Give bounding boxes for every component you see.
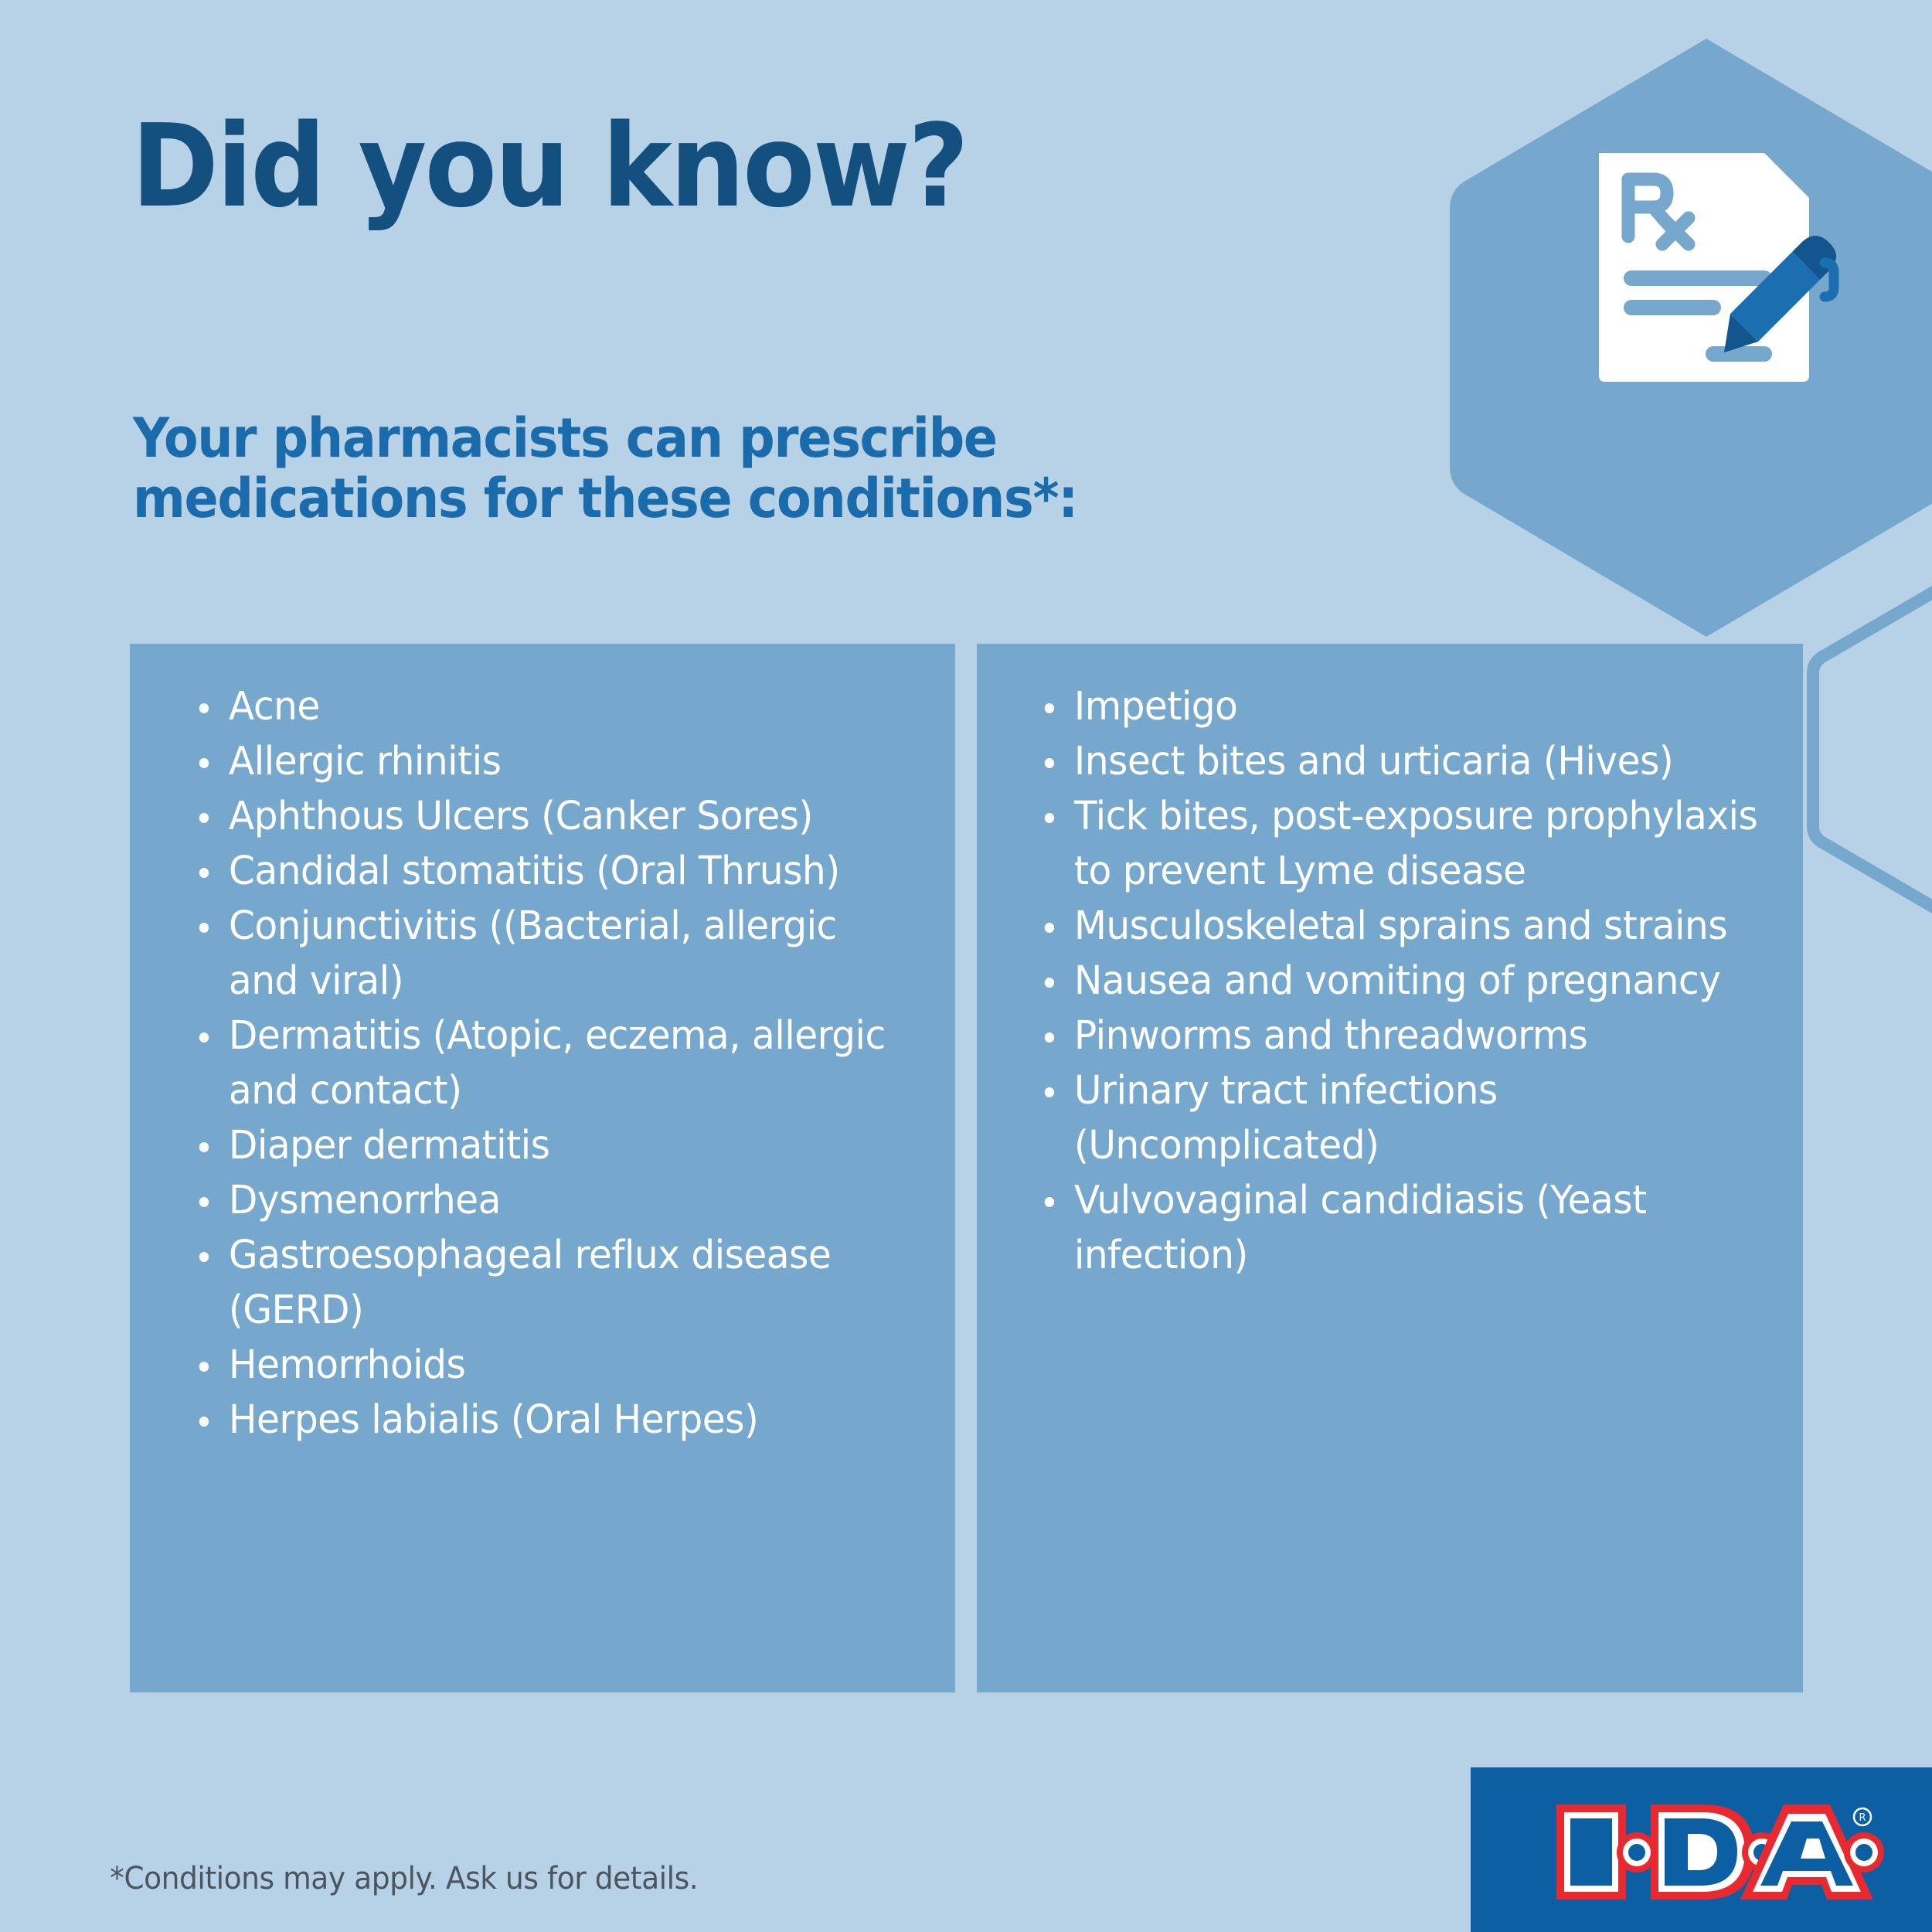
list-item: Urinary tract infections (Uncomplicated): [1040, 1063, 1760, 1173]
list-item: Conjunctivitis ((Bacterial, allergic and…: [195, 899, 903, 1009]
conditions-list-right: Impetigo Insect bites and urticaria (Hiv…: [1040, 679, 1794, 1283]
registered-trademark-icon: R: [1854, 1808, 1871, 1825]
svg-text:R: R: [1859, 1812, 1866, 1824]
ida-logo: R: [1471, 1767, 1932, 1932]
page-title: Did you know?: [131, 108, 1269, 225]
conditions-panel-right: Impetigo Insect bites and urticaria (Hiv…: [977, 644, 1803, 1692]
hexagon-outline-icon: [1801, 564, 1932, 935]
list-item: Gastroesophageal reflux disease (GERD): [195, 1228, 903, 1338]
list-item: Tick bites, post-exposure prophylaxis to…: [1040, 789, 1760, 899]
subheading-line-2: medications for these conditions*:: [133, 468, 1254, 529]
infographic-canvas: Did you know? Your pharmacists can presc…: [0, 0, 1932, 1932]
footnote-text: *Conditions may apply. Ask us for detail…: [110, 1861, 698, 1896]
conditions-list-left: Acne Allergic rhinitis Aphthous Ulcers (…: [195, 679, 937, 1447]
conditions-panel-left: Acne Allergic rhinitis Aphthous Ulcers (…: [130, 644, 955, 1692]
list-item: Aphthous Ulcers (Canker Sores): [195, 789, 903, 844]
list-item: Allergic rhinitis: [195, 734, 903, 789]
list-item: Pinworms and threadworms: [1040, 1009, 1760, 1063]
list-item: Dermatitis (Atopic, eczema, allergic and…: [195, 1009, 903, 1118]
subheading-line-1: Your pharmacists can prescribe: [133, 408, 1254, 468]
list-item: Vulvovaginal candidiasis (Yeast infectio…: [1040, 1173, 1760, 1283]
rx-prescription-icon: [1588, 147, 1843, 394]
list-item: Nausea and vomiting of pregnancy: [1040, 954, 1760, 1009]
subheading: Your pharmacists can prescribe medicatio…: [133, 408, 1254, 529]
ida-logo-mark: R: [1552, 1800, 1884, 1904]
list-item: Hemorrhoids: [195, 1338, 903, 1393]
list-item: Herpes labialis (Oral Herpes): [195, 1393, 903, 1447]
list-item: Diaper dermatitis: [195, 1118, 903, 1173]
list-item: Candidal stomatitis (Oral Thrush): [195, 844, 903, 899]
list-item: Insect bites and urticaria (Hives): [1040, 734, 1760, 789]
list-item: Dysmenorrhea: [195, 1173, 903, 1228]
list-item: Acne: [195, 679, 903, 734]
list-item: Impetigo: [1040, 679, 1760, 734]
list-item: Musculoskeletal sprains and strains: [1040, 899, 1760, 954]
